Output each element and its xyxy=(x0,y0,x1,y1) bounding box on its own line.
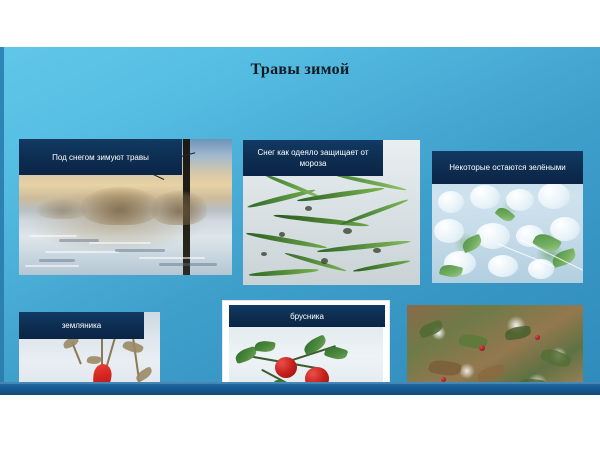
frost-crystal-shape xyxy=(476,223,510,249)
moss-shape xyxy=(539,346,572,370)
moss-shape xyxy=(428,358,462,377)
soil-speck-shape xyxy=(279,232,285,237)
frost-crystal-shape xyxy=(488,255,518,277)
moss-shape xyxy=(418,319,445,338)
slide-bottom-accent-bar xyxy=(0,382,600,395)
frosted-green-plants-caption: Некоторые остаются зелёными xyxy=(432,151,583,184)
cranberry-berry-shape xyxy=(479,345,485,351)
grass-blade-shape xyxy=(340,198,409,226)
frost-crystal-shape xyxy=(470,185,500,209)
frozen-bush-shape xyxy=(151,191,207,225)
moss-shape xyxy=(476,363,506,383)
frozen-bush-shape xyxy=(37,199,87,219)
winter-field-caption: Под снегом зимуют травы xyxy=(19,139,182,175)
soil-speck-shape xyxy=(305,206,312,211)
snow-streak-shape xyxy=(25,265,79,267)
frozen-bush-shape xyxy=(81,187,159,225)
grass-blade-shape xyxy=(317,239,411,254)
green-leaf-shape xyxy=(324,344,349,362)
frost-crystal-shape xyxy=(438,191,464,213)
slide-viewer: Травы зимой Под xyxy=(0,0,600,450)
snow-shadow-shape xyxy=(39,259,75,262)
slide-left-edge-accent xyxy=(0,47,4,395)
bottom-white-margin xyxy=(0,395,600,450)
soil-speck-shape xyxy=(343,228,352,234)
winter-field-photo[interactable]: Под снегом зимуют травы xyxy=(19,139,232,275)
green-leaf-shape xyxy=(460,234,483,254)
presentation-slide: Травы зимой Под xyxy=(0,47,600,395)
soil-speck-shape xyxy=(321,258,328,264)
snow-streak-shape xyxy=(29,235,77,237)
grass-blade-shape xyxy=(246,231,328,250)
grass-under-snow-photo[interactable]: Снег как одеяло защищает от мороза xyxy=(243,140,420,285)
dry-leaf-shape xyxy=(122,338,144,355)
top-white-margin xyxy=(0,0,600,47)
soil-speck-shape xyxy=(261,252,267,256)
frost-crystal-shape xyxy=(434,219,464,243)
page-title: Травы зимой xyxy=(0,61,600,79)
frosted-green-plants-photo[interactable]: Некоторые остаются зелёными xyxy=(432,151,583,283)
lingonberry-berry-shape xyxy=(275,357,297,378)
grass-under-snow-caption: Снег как одеяло защищает от мороза xyxy=(243,140,383,176)
frost-crystal-shape xyxy=(538,183,570,209)
soil-speck-shape xyxy=(373,248,381,253)
moss-shape xyxy=(504,325,531,341)
snow-streak-shape xyxy=(139,257,205,259)
snow-streak-shape xyxy=(89,242,151,244)
wild-strawberry-caption: земляника xyxy=(19,312,144,339)
frost-crystal-shape xyxy=(506,189,534,211)
lingonberry-photo[interactable]: fotki.yandex.ru брусника xyxy=(222,300,390,395)
snow-shadow-shape xyxy=(115,249,165,252)
green-leaf-shape xyxy=(254,340,275,354)
lingonberry-caption: брусника xyxy=(229,305,385,327)
grass-blade-shape xyxy=(249,268,319,278)
snow-streak-shape xyxy=(45,251,119,253)
snow-shadow-shape xyxy=(159,263,217,266)
cranberry-berry-shape xyxy=(535,335,540,340)
grass-blade-shape xyxy=(353,259,411,273)
snow-shadow-shape xyxy=(59,239,99,242)
